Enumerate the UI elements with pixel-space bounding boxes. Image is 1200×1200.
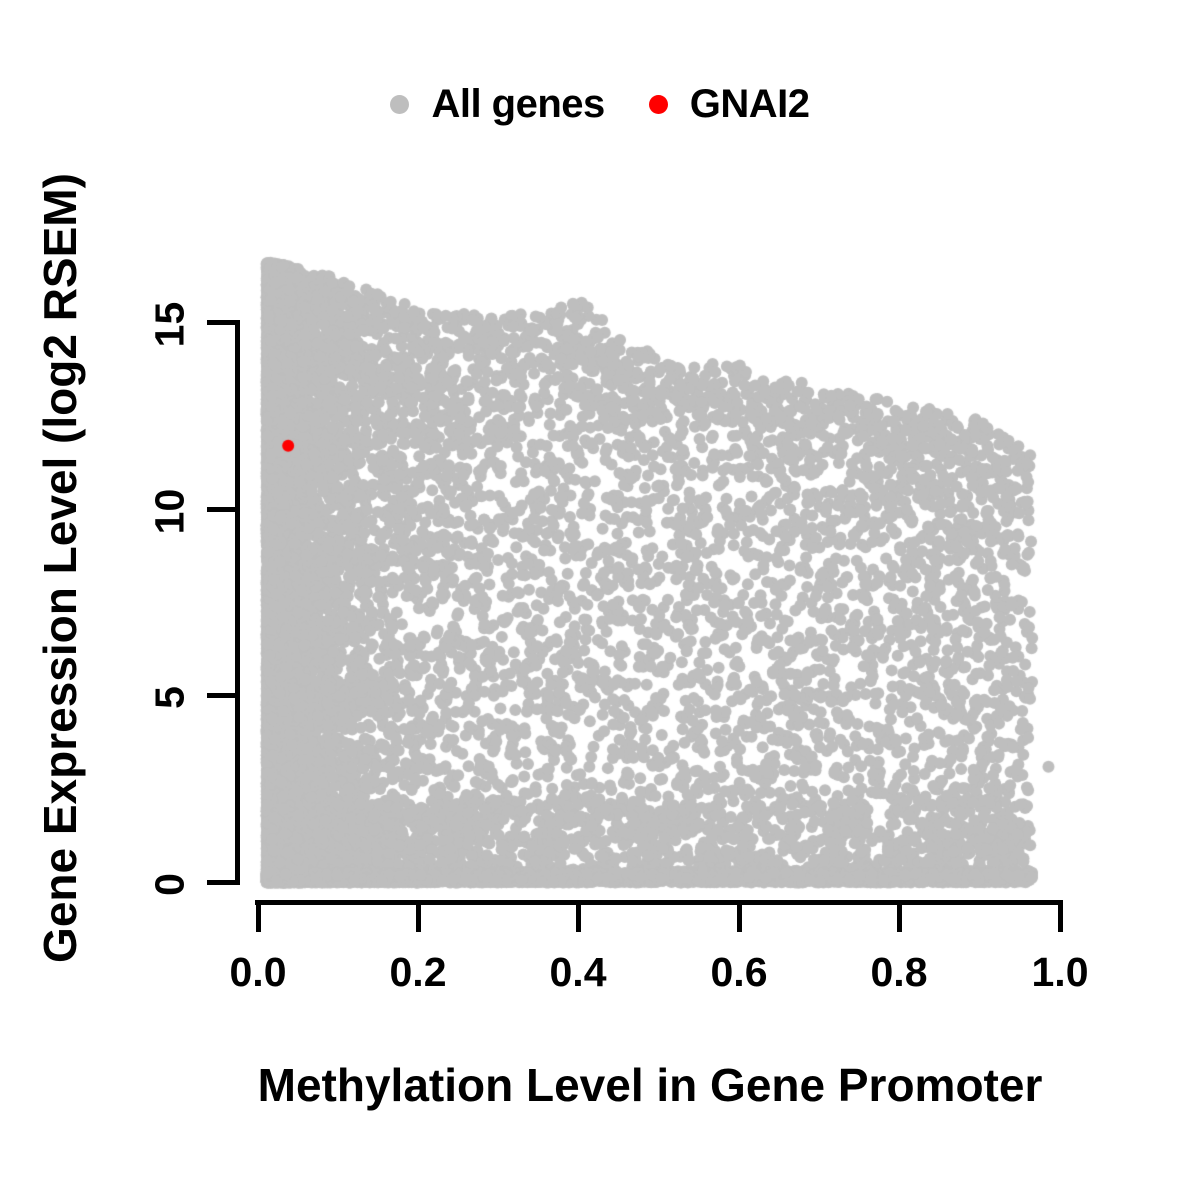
- y-tick-label-15: 15: [150, 288, 191, 362]
- x-tick-label-04: 0.4: [508, 952, 648, 993]
- x-tick-mark-00: [256, 900, 261, 932]
- x-axis-title: Methylation Level in Gene Promoter: [150, 1062, 1150, 1108]
- x-tick-label-00: 0.0: [188, 952, 328, 993]
- y-tick-mark-0: [207, 880, 240, 885]
- x-tick-label-02: 0.2: [348, 952, 488, 993]
- x-tick-mark-04: [576, 900, 581, 932]
- y-tick-mark-5: [207, 693, 240, 698]
- y-tick-label-0: 0: [150, 855, 191, 915]
- x-tick-label-08: 0.8: [829, 952, 969, 993]
- y-tick-mark-15: [207, 320, 240, 325]
- x-tick-mark-10: [1058, 900, 1063, 932]
- scatter-points-canvas: [0, 0, 1200, 1200]
- x-tick-mark-08: [897, 900, 902, 932]
- y-axis-title: Gene Expression Level (log2 RSEM): [37, 148, 83, 988]
- x-tick-label-10: 1.0: [990, 952, 1130, 993]
- y-axis-line: [235, 320, 240, 885]
- x-tick-mark-06: [737, 900, 742, 932]
- scatter-plot-figure: All genes GNAI2 0 5 10 15 0.0 0.2 0.4 0.…: [0, 0, 1200, 1200]
- x-axis-line: [255, 900, 1063, 905]
- y-tick-mark-10: [207, 507, 240, 512]
- y-tick-label-10: 10: [150, 475, 191, 549]
- x-tick-label-06: 0.6: [669, 952, 809, 993]
- y-tick-label-5: 5: [150, 668, 191, 728]
- x-tick-mark-02: [416, 900, 421, 932]
